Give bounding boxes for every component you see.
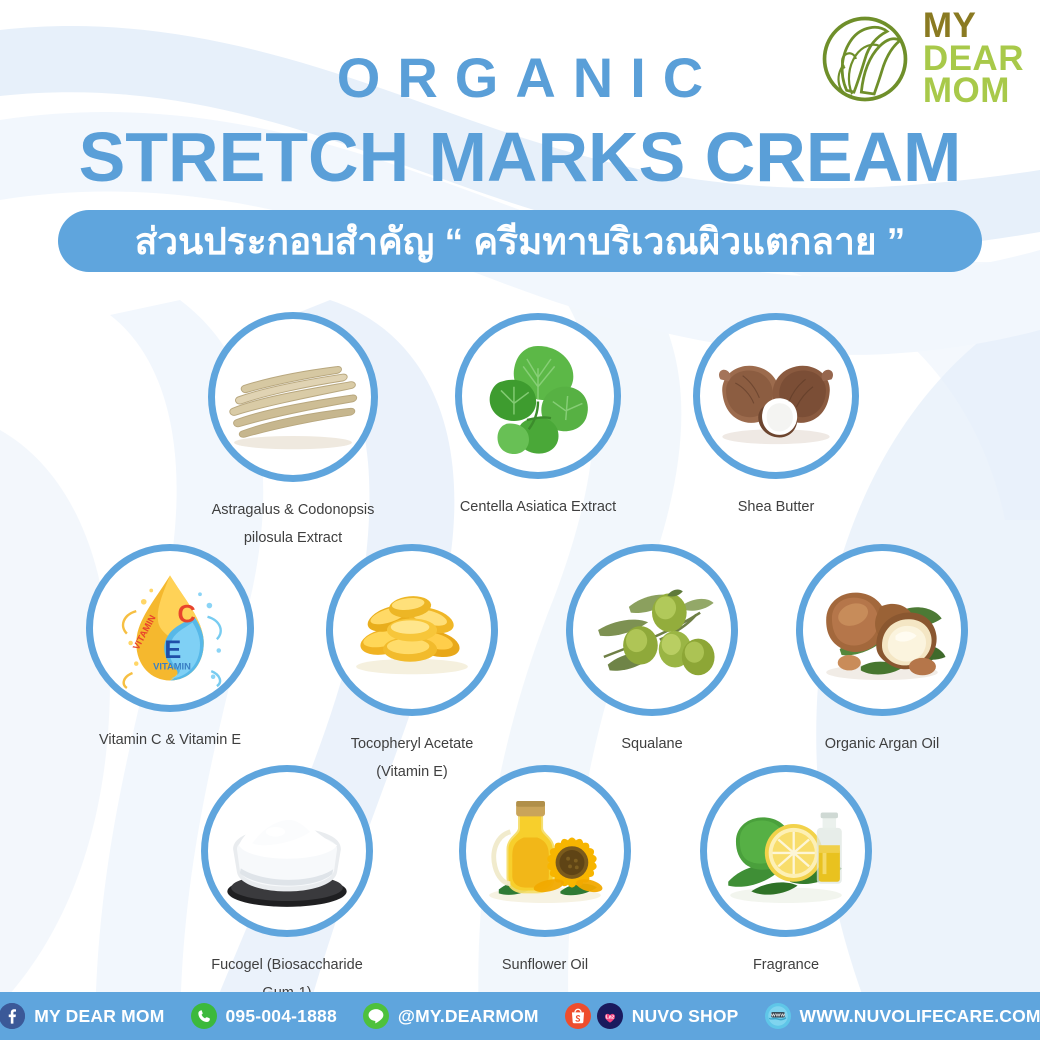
footer-item-line[interactable]: @MY.DEARMOM — [363, 1003, 539, 1029]
ingredient-astragalus-codonopsis[interactable]: Astragalus & Codonopsis pilosula Extract — [208, 312, 378, 553]
brand-logo-text: MY DEAR MOM — [923, 10, 1024, 108]
citrus-oil-bottle-image-icon — [700, 765, 872, 937]
vitamin-droplet-image-icon: C E VITAMIN VITAMIN — [86, 544, 254, 712]
shea-nuts-image-icon — [693, 313, 859, 479]
dried-roots-image-icon — [208, 312, 378, 482]
footer-item-shops[interactable]: Laz NUVO SHOP — [565, 1003, 739, 1029]
www-globe-icon: WWW — [765, 1003, 791, 1029]
footer-text-website: WWW.NUVOLIFECARE.COM — [800, 1006, 1040, 1027]
svg-text:Laz: Laz — [605, 1014, 614, 1020]
poster-canvas: MY DEAR MOM ORGANIC STRETCH MARKS CREAM … — [0, 0, 1040, 1040]
footer-item-website[interactable]: WWW WWW.NUVOLIFECARE.COM — [765, 1003, 1040, 1029]
logo-line-my: MY — [923, 10, 1024, 43]
leaf-woman-circle-logo-icon — [819, 13, 911, 105]
svg-text:WWW: WWW — [770, 1012, 784, 1018]
ingredient-label: Vitamin C & Vitamin E — [99, 726, 241, 754]
footer-text-phone: 095-004-1888 — [226, 1006, 337, 1027]
ingredient-fragrance[interactable]: Fragrance — [700, 765, 872, 979]
argan-nuts-image-icon — [796, 544, 968, 716]
ingredient-vitamin-c-e[interactable]: C E VITAMIN VITAMIN Vitamin C & Vitamin … — [86, 544, 254, 754]
ingredient-label: Shea Butter — [738, 493, 815, 521]
lazada-icon: Laz — [597, 1003, 623, 1029]
logo-line-mom: MOM — [923, 75, 1024, 108]
shopee-icon — [565, 1003, 591, 1029]
ingredient-label: Squalane — [621, 730, 682, 758]
page-title-line2: STRETCH MARKS CREAM — [0, 117, 1040, 197]
ingredient-shea-butter[interactable]: Shea Butter — [693, 313, 859, 521]
white-powder-bowl-image-icon — [201, 765, 373, 937]
ingredient-label: Organic Argan Oil — [825, 730, 939, 758]
subtitle-banner: ส่วนประกอบสำคัญ “ ครีมทาบริเวณผิวแตกลาย … — [58, 210, 982, 272]
olive-branch-image-icon — [566, 544, 738, 716]
softgel-capsules-image-icon — [326, 544, 498, 716]
centella-leaves-image-icon — [455, 313, 621, 479]
footer-item-facebook[interactable]: MY DEAR MOM — [0, 1003, 165, 1029]
footer-text-line: @MY.DEARMOM — [398, 1006, 539, 1027]
ingredient-squalane[interactable]: Squalane — [566, 544, 738, 758]
droplet-letter-c: C — [178, 600, 196, 628]
ingredient-label: Centella Asiatica Extract — [460, 493, 616, 521]
phone-icon — [191, 1003, 217, 1029]
sunflower-oil-bottle-image-icon — [459, 765, 631, 937]
ingredient-label: Sunflower Oil — [502, 951, 588, 979]
facebook-icon — [0, 1003, 25, 1029]
droplet-letter-e: E — [164, 636, 181, 664]
brand-logo: MY DEAR MOM — [819, 10, 1024, 108]
footer-text-shops: NUVO SHOP — [632, 1006, 739, 1027]
ingredient-centella-asiatica[interactable]: Centella Asiatica Extract — [455, 313, 621, 521]
footer-contact-bar: MY DEAR MOM 095-004-1888 @MY.DEARMOM — [0, 992, 1040, 1040]
line-chat-icon — [363, 1003, 389, 1029]
ingredient-organic-argan-oil[interactable]: Organic Argan Oil — [796, 544, 968, 758]
footer-item-phone[interactable]: 095-004-1888 — [191, 1003, 337, 1029]
subtitle-banner-text: ส่วนประกอบสำคัญ “ ครีมทาบริเวณผิวแตกลาย … — [135, 212, 906, 271]
footer-text-facebook: MY DEAR MOM — [34, 1006, 164, 1027]
ingredient-sunflower-oil[interactable]: Sunflower Oil — [459, 765, 631, 979]
ingredient-tocopheryl-acetate[interactable]: Tocopheryl Acetate (Vitamin E) — [326, 544, 498, 787]
ingredient-label: Fragrance — [753, 951, 819, 979]
ingredient-fucogel[interactable]: Fucogel (Biosaccharide Gum-1) — [201, 765, 373, 1008]
droplet-word-vitamin-bottom: VITAMIN — [153, 661, 191, 671]
